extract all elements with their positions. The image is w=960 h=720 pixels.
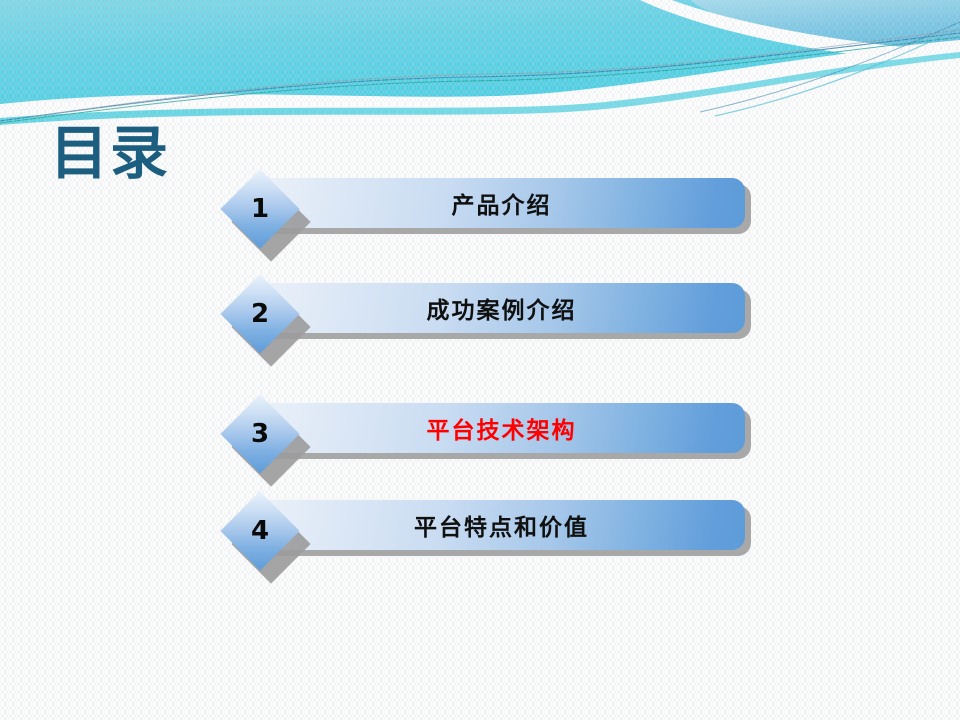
agenda-number-badge[interactable]: 2 xyxy=(211,273,307,355)
agenda-bar[interactable]: 产品介绍 xyxy=(258,178,745,228)
agenda-item-label: 产品介绍 xyxy=(258,178,745,228)
agenda-number-badge[interactable]: 4 xyxy=(211,490,307,572)
agenda-bar[interactable]: 成功案例介绍 xyxy=(258,283,745,333)
agenda-list: 产品介绍 1 成功案例介绍 2 xyxy=(0,0,960,720)
agenda-item-4[interactable]: 平台特点和价值 4 xyxy=(0,482,960,578)
agenda-item-2[interactable]: 成功案例介绍 2 xyxy=(0,265,960,361)
agenda-item-number: 3 xyxy=(232,406,288,462)
agenda-bar[interactable]: 平台技术架构 xyxy=(258,403,745,453)
slide-canvas: 目录 产品介绍 1 成功案例介绍 xyxy=(0,0,960,720)
agenda-item-label: 成功案例介绍 xyxy=(258,283,745,333)
agenda-item-number: 4 xyxy=(232,503,288,559)
agenda-item-label: 平台技术架构 xyxy=(258,403,745,453)
agenda-item-number: 2 xyxy=(232,286,288,342)
agenda-item-1[interactable]: 产品介绍 1 xyxy=(0,160,960,256)
agenda-item-label: 平台特点和价值 xyxy=(258,500,745,550)
agenda-number-badge[interactable]: 1 xyxy=(211,168,307,250)
agenda-number-badge[interactable]: 3 xyxy=(211,393,307,475)
agenda-item-number: 1 xyxy=(232,181,288,237)
agenda-item-3[interactable]: 平台技术架构 3 xyxy=(0,385,960,481)
agenda-bar[interactable]: 平台特点和价值 xyxy=(258,500,745,550)
